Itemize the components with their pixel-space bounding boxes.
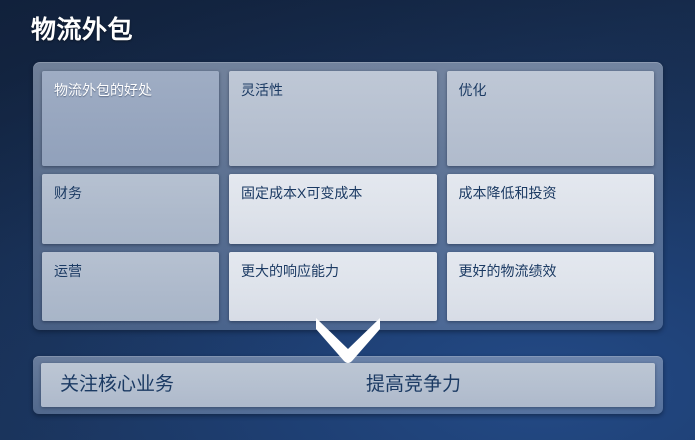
matrix-cell-label: 灵活性 <box>241 80 425 100</box>
chevron-down-icon <box>316 318 380 364</box>
conclusion-item-core-business: 关注核心业务 <box>60 373 174 397</box>
conclusion-item-competitiveness: 提高竞争力 <box>366 373 461 397</box>
page-title: 物流外包 <box>31 14 133 46</box>
matrix-cell-label: 成本降低和投资 <box>459 183 643 203</box>
matrix-cell-cost-reduction-investment[interactable]: 成本降低和投资 <box>447 174 655 243</box>
matrix-cell-label: 物流外包的好处 <box>54 80 207 100</box>
matrix-cell-label: 更好的物流绩效 <box>459 261 643 281</box>
matrix-cell-category-header[interactable]: 物流外包的好处 <box>42 71 219 166</box>
matrix-cell-label: 运营 <box>54 261 207 281</box>
benefits-matrix: 物流外包的好处 灵活性 优化 财务 固定成本X可变成本 成本降低和投资 运营 <box>33 62 663 330</box>
conclusion-cell[interactable]: 关注核心业务 提高竞争力 <box>41 363 655 407</box>
matrix-cell-label: 固定成本X可变成本 <box>241 183 425 203</box>
matrix-cell-fixed-vs-variable-cost[interactable]: 固定成本X可变成本 <box>229 174 437 243</box>
matrix-row: 财务 固定成本X可变成本 成本降低和投资 <box>42 174 654 243</box>
matrix-cell-label: 更大的响应能力 <box>241 261 425 281</box>
conclusion-panel: 关注核心业务 提高竞争力 <box>33 356 663 414</box>
matrix-row: 运营 更大的响应能力 更好的物流绩效 <box>42 252 654 321</box>
matrix-cell-label: 优化 <box>459 80 643 100</box>
matrix-cell-flexibility[interactable]: 灵活性 <box>229 71 437 166</box>
matrix-cell-label: 财务 <box>54 183 207 203</box>
slide-canvas: 物流外包 物流外包的好处 灵活性 优化 财务 固定成本X可变成本 成本降低和投资 <box>0 0 695 440</box>
matrix-row: 物流外包的好处 灵活性 优化 <box>42 71 654 166</box>
matrix-cell-greater-responsiveness[interactable]: 更大的响应能力 <box>229 252 437 321</box>
matrix-cell-operations[interactable]: 运营 <box>42 252 219 321</box>
matrix-cell-finance[interactable]: 财务 <box>42 174 219 243</box>
matrix-cell-better-logistics-performance[interactable]: 更好的物流绩效 <box>447 252 655 321</box>
matrix-cell-optimization[interactable]: 优化 <box>447 71 655 166</box>
